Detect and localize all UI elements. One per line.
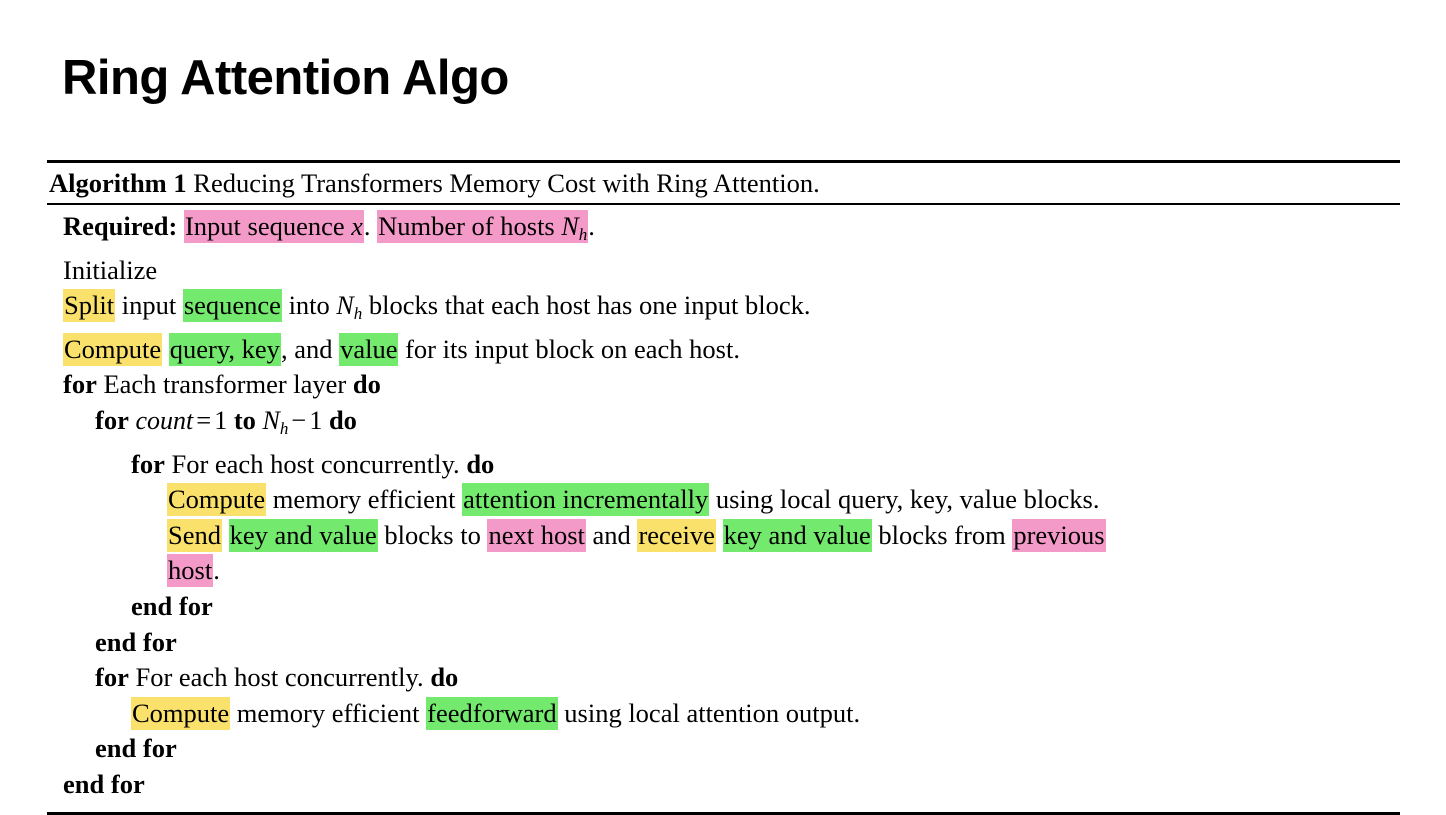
send-middle-text-1: blocks to — [384, 520, 480, 550]
for-keyword: for — [95, 405, 129, 435]
highlight-send: Send — [167, 519, 222, 552]
algorithm-line-compute-attention: Compute memory efficient attention incre… — [47, 482, 1400, 518]
equals-symbol: = — [193, 405, 214, 435]
highlight-split: Split — [63, 289, 115, 322]
receive-verb: receive — [638, 520, 715, 550]
algorithm-line-compute-qkv: Compute query, key, and value for its in… — [47, 332, 1400, 368]
count-start-value: 1 — [214, 406, 227, 435]
highlight-compute-qkv: Compute — [63, 333, 162, 366]
split-tail-text: blocks that each host has one input bloc… — [369, 290, 811, 320]
highlight-previous: previous — [1012, 519, 1105, 552]
required-period-2: . — [588, 211, 595, 241]
initialize-text: Initialize — [63, 255, 157, 285]
slide-canvas: Ring Attention Algo Algorithm 1 Reducing… — [0, 0, 1446, 798]
feedforward-middle-text: memory efficient — [237, 698, 420, 728]
split-input-word: input — [122, 290, 176, 320]
algorithm-line-for-count: for count=1 to Nh−1 do — [47, 403, 1400, 447]
algorithm-line-end-for-3: end for — [47, 731, 1400, 767]
highlight-host: host — [167, 554, 213, 587]
do-keyword: do — [430, 662, 458, 692]
for-keyword: for — [63, 369, 97, 399]
highlight-compute-attention: Compute — [167, 483, 266, 516]
do-keyword: do — [353, 369, 381, 399]
highlight-next-host: next host — [487, 519, 585, 552]
compute-verb: Compute — [132, 698, 229, 728]
algorithm-line-initialize: Initialize — [47, 253, 1400, 289]
algorithm-line-end-for-4: end for — [47, 767, 1400, 803]
previous-text: previous — [1013, 520, 1104, 550]
split-verb: Split — [64, 290, 114, 320]
value-text: value — [340, 334, 397, 364]
end-for-keyword: end for — [63, 769, 145, 799]
highlight-feedforward: feedforward — [426, 697, 557, 730]
highlight-input-sequence: Input sequence x — [184, 210, 364, 243]
for-host-text: For each host concurrently. — [171, 449, 459, 479]
compute-comma: , — [281, 334, 288, 364]
algorithm-line-send-wrap: host. — [47, 553, 1400, 589]
highlight-receive: receive — [637, 519, 716, 552]
highlight-sequence: sequence — [183, 289, 282, 322]
end-for-keyword: end for — [131, 591, 213, 621]
end-for-keyword: end for — [95, 627, 177, 657]
send-middle-text-2: blocks from — [878, 520, 1005, 550]
for-layer-text: Each transformer layer — [103, 369, 346, 399]
algorithm-line-end-for-2: end for — [47, 625, 1400, 661]
algorithm-line-split: Split input sequence into Nh blocks that… — [47, 288, 1400, 332]
feedforward-text: feedforward — [427, 698, 556, 728]
algorithm-block: Algorithm 1 Reducing Transformers Memory… — [47, 160, 1400, 815]
split-into-word: into — [289, 290, 330, 320]
send-verb: Send — [168, 520, 221, 550]
next-host-text: next host — [488, 520, 584, 550]
for-host-text-2: For each host concurrently. — [135, 662, 423, 692]
algorithm-line-send-receive: Send key and value blocks to next host a… — [47, 518, 1400, 554]
algorithm-line-end-for-1: end for — [47, 589, 1400, 625]
algorithm-line-compute-feedforward: Compute memory efficient feedforward usi… — [47, 696, 1400, 732]
feedforward-tail-text: using local attention output. — [564, 698, 860, 728]
algorithm-line-required: Required: Input sequence x. Number of ho… — [47, 209, 1400, 253]
to-keyword: to — [234, 405, 256, 435]
attention-tail-text: using local query, key, value blocks. — [716, 484, 1100, 514]
split-sequence-word: sequence — [184, 290, 281, 320]
for-keyword: for — [131, 449, 165, 479]
key-and-value-text-2: key and value — [724, 520, 871, 550]
highlight-number-of-hosts: Number of hosts Nh — [377, 210, 588, 243]
send-period: . — [213, 555, 220, 585]
required-input-sequence-text: Input sequence — [185, 211, 345, 241]
for-keyword: for — [95, 662, 129, 692]
algorithm-line-for-host-1: for For each host concurrently. do — [47, 447, 1400, 483]
compute-verb: Compute — [168, 484, 265, 514]
key-and-value-text: key and value — [230, 520, 377, 550]
do-keyword: do — [329, 405, 357, 435]
highlight-value: value — [339, 333, 398, 366]
end-for-keyword: end for — [95, 733, 177, 763]
algorithm-caption-text: Reducing Transformers Memory Cost with R… — [193, 168, 819, 198]
highlight-attention-incrementally: attention incrementally — [462, 483, 709, 516]
compute-verb: Compute — [64, 334, 161, 364]
page-title: Ring Attention Algo — [62, 48, 509, 108]
count-end-offset: 1 — [309, 406, 322, 435]
algorithm-rule-bottom — [47, 812, 1400, 815]
highlight-key-and-value-1: key and value — [229, 519, 378, 552]
required-N-subscript: h — [579, 225, 588, 244]
query-key-text: query, key — [170, 334, 280, 364]
highlight-query-key: query, key — [169, 333, 281, 366]
minus-symbol: − — [288, 405, 309, 435]
highlight-key-and-value-2: key and value — [723, 519, 872, 552]
split-N-symbol: N — [336, 291, 353, 320]
split-N-subscript: h — [354, 304, 363, 323]
send-and-word: and — [593, 520, 631, 550]
algorithm-line-for-layer: for Each transformer layer do — [47, 367, 1400, 403]
attention-incrementally-text: attention incrementally — [463, 484, 708, 514]
do-keyword: do — [466, 449, 494, 479]
count-N-symbol: N — [263, 406, 280, 435]
required-label: Required: — [63, 211, 177, 241]
compute-tail-text: for its input block on each host. — [405, 334, 740, 364]
algorithm-caption: Algorithm 1 Reducing Transformers Memory… — [47, 163, 1400, 202]
count-variable: count — [135, 406, 193, 435]
required-x-symbol: x — [351, 212, 363, 241]
highlight-compute-feedforward: Compute — [131, 697, 230, 730]
required-number-of-hosts-text: Number of hosts — [378, 211, 555, 241]
algorithm-body: Required: Input sequence x. Number of ho… — [47, 205, 1400, 809]
host-text: host — [168, 555, 212, 585]
compute-and-word: and — [294, 334, 332, 364]
required-N-symbol: N — [561, 212, 578, 241]
algorithm-caption-label: Algorithm 1 — [49, 168, 187, 198]
algorithm-line-for-host-2: for For each host concurrently. do — [47, 660, 1400, 696]
attention-middle-text: memory efficient — [273, 484, 456, 514]
